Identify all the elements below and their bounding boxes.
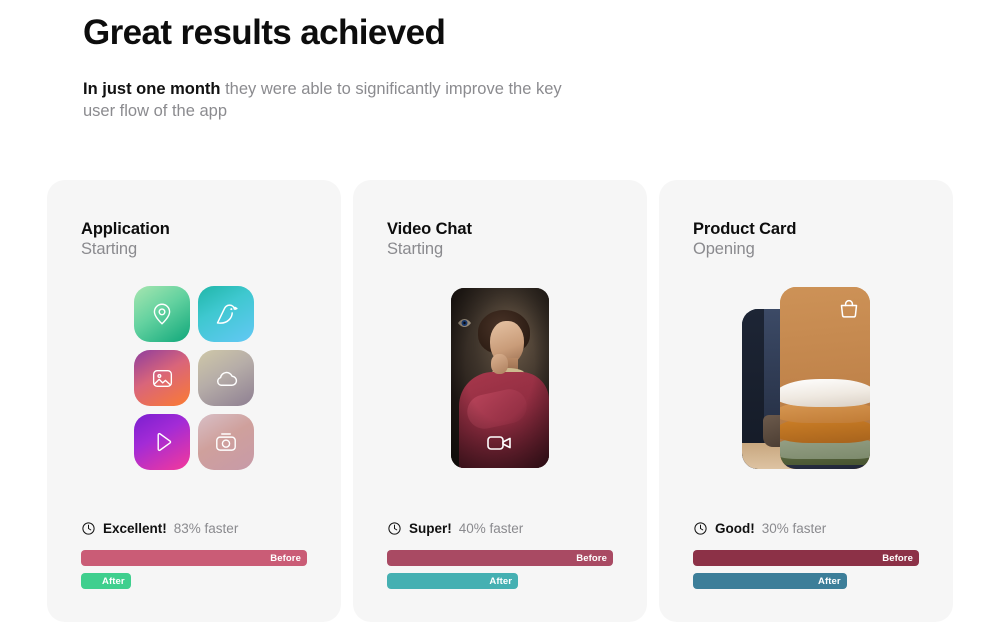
portrait-photo [451,288,549,468]
location-pin-icon[interactable] [134,286,190,342]
page-header: Great results achieved In just one month… [83,12,783,123]
shopping-bag-icon[interactable] [837,297,861,326]
card-stats: Good! 30% faster Before After [693,521,919,596]
results-page: Great results achieved In just one month… [0,0,1000,642]
bar-label-before: Before [576,553,607,564]
result-card-video-chat[interactable]: Video Chat Starting [353,180,647,622]
bar-label-after: After [489,576,512,587]
video-camera-icon[interactable] [486,433,514,458]
result-card-application[interactable]: Application Starting [47,180,341,622]
stat-value: 30% faster [762,521,827,536]
bar-before: Before [693,550,919,566]
stat-rating: Good! [715,521,755,536]
app-icon-grid [134,286,254,470]
clock-icon [693,521,708,536]
bar-label-after: After [102,576,125,587]
product-card-stack [742,287,870,469]
bar-after: After [81,573,131,589]
card-stats: Super! 40% faster Before After [387,521,613,596]
card-subtitle: Starting [81,240,307,259]
card-visual-app-icons [47,278,341,478]
photo-icon[interactable] [134,350,190,406]
bar-after: After [387,573,518,589]
product-photo-front [780,287,870,469]
bar-label-after: After [818,576,841,587]
stat-line: Super! 40% faster [387,521,613,536]
bar-before: Before [387,550,613,566]
stat-line: Good! 30% faster [693,521,919,536]
card-stats: Excellent! 83% faster Before After [81,521,307,596]
play-icon[interactable] [134,414,190,470]
bar-before: Before [81,550,307,566]
card-visual-video-portrait [353,278,647,478]
card-subtitle: Opening [693,240,919,259]
page-subtitle-strong: In just one month [83,80,221,98]
pillow-white [780,379,870,407]
stat-value: 83% faster [174,521,239,536]
bar-after: After [693,573,847,589]
bar-track-after: After [387,573,613,589]
bar-track-before: Before [81,550,307,566]
bar-label-before: Before [882,553,913,564]
clock-icon [387,521,402,536]
bar-label-before: Before [270,553,301,564]
result-card-product-card[interactable]: Product Card Opening [659,180,953,622]
stat-value: 40% faster [459,521,524,536]
camera-icon[interactable] [198,414,254,470]
card-title: Video Chat [387,220,613,239]
bar-track-before: Before [693,550,919,566]
card-title: Application [81,220,307,239]
bar-track-after: After [693,573,919,589]
card-subtitle: Starting [387,240,613,259]
cloud-icon[interactable] [198,350,254,406]
page-title: Great results achieved [83,12,783,54]
card-visual-product-cards [659,278,953,478]
stat-line: Excellent! 83% faster [81,521,307,536]
card-title: Product Card [693,220,919,239]
bar-track-after: After [81,573,307,589]
bird-icon[interactable] [198,286,254,342]
results-card-row: Application Starting [47,180,953,622]
stat-rating: Super! [409,521,452,536]
clock-icon [81,521,96,536]
page-subtitle: In just one month they were able to sign… [83,79,593,123]
bar-track-before: Before [387,550,613,566]
stat-rating: Excellent! [103,521,167,536]
